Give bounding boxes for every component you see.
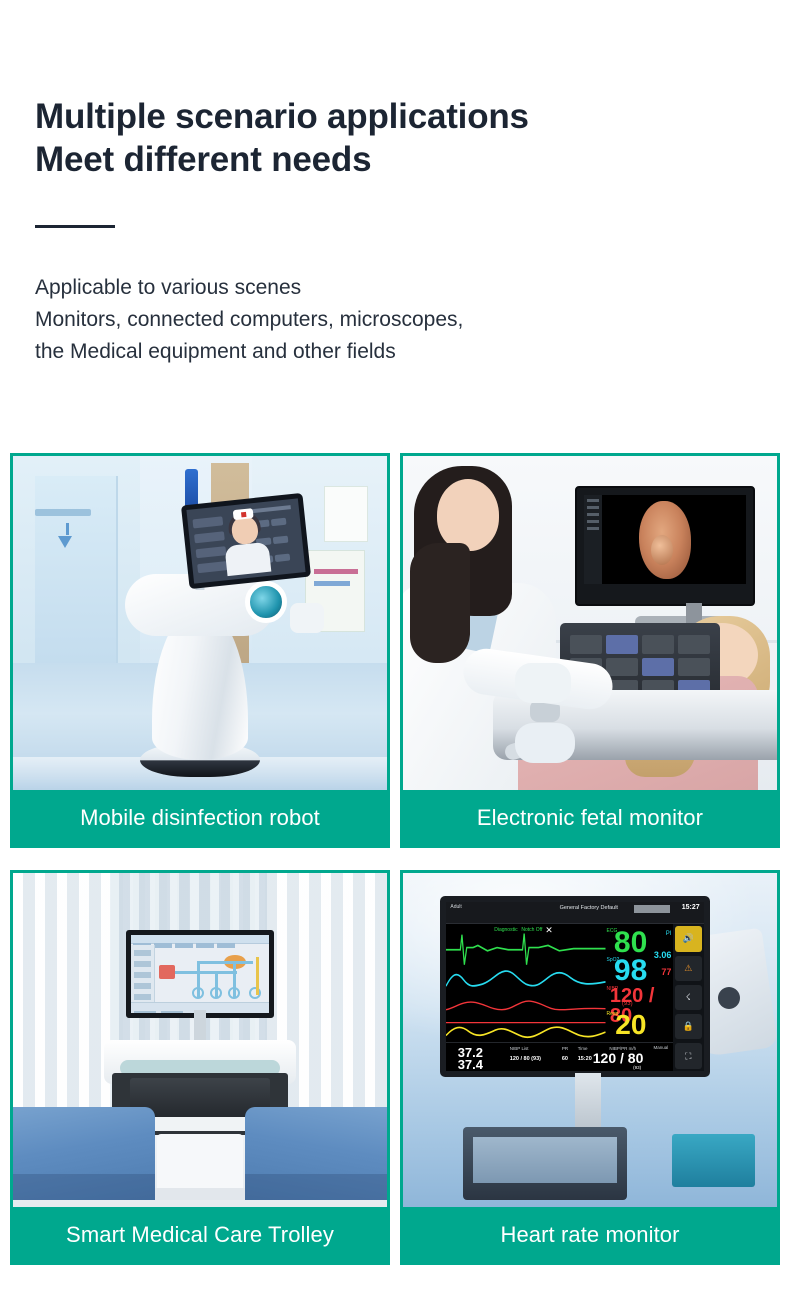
- monitor-topbar: Adult General Factory Default 15:27: [446, 902, 703, 924]
- wall-poster-upper: [324, 486, 368, 542]
- schematic-pipe-1: [175, 971, 237, 974]
- scenario-card-robot[interactable]: Mobile disinfection robot: [10, 453, 390, 848]
- scenario-card-fetal-monitor[interactable]: Electronic fetal monitor: [400, 453, 780, 848]
- schematic-valve-4: [249, 987, 261, 999]
- robot-tablet-screen: [181, 493, 311, 589]
- caption-mobile-disinfection-robot: Mobile disinfection robot: [13, 790, 387, 845]
- page-header: Multiple scenario applications Meet diff…: [35, 96, 755, 368]
- robot-arm: [290, 603, 324, 633]
- trolley-paper-tray: [146, 1117, 254, 1131]
- schematic-valve-2: [210, 987, 222, 999]
- footer-value-pr: 60: [562, 1056, 568, 1062]
- monitor-waveform-area: Diagnostic Notch Off ✕: [446, 924, 606, 1042]
- monitor-side-button-bar: 🔊 ⚠ ☇ 🔒 ⛶: [673, 924, 704, 1070]
- caption-smart-medical-care-trolley: Smart Medical Care Trolley: [13, 1207, 387, 1262]
- photo-electronic-fetal-monitor: [403, 456, 777, 790]
- wayfinding-arrow-stem: [66, 523, 69, 535]
- monitor-clock: 15:27: [682, 904, 700, 911]
- caption-electronic-fetal-monitor: Electronic fetal monitor: [403, 790, 777, 845]
- or-secondary-device: [463, 1127, 628, 1200]
- schematic-valve-1: [192, 987, 204, 999]
- ultrasound-screen-sidebar: [584, 495, 602, 584]
- photo-mobile-disinfection-robot: [13, 456, 387, 790]
- page-subtitle: Applicable to various scenes Monitors, c…: [35, 272, 755, 368]
- spo2-waveform: [446, 971, 606, 986]
- print-icon[interactable]: ⛶: [675, 1043, 702, 1068]
- hospital-bed-left: [13, 1107, 155, 1201]
- surgical-arm-joint: [718, 987, 740, 1009]
- resp-waveform: [446, 1027, 606, 1037]
- photo-smart-medical-care-trolley: [13, 873, 387, 1207]
- schematic-output-line: [256, 957, 259, 995]
- scenario-card-heart-rate-monitor[interactable]: Adult General Factory Default 15:27: [400, 870, 780, 1265]
- footer-value-nibp-list: 120 / 80 (93): [510, 1056, 541, 1062]
- doctor-hair-back: [410, 543, 470, 663]
- tablet-avatar-body: [224, 541, 271, 575]
- vital-value-resp: 20: [615, 1011, 646, 1039]
- footer-label-pr: PR: [562, 1046, 568, 1051]
- vital-value-spo2: 98: [614, 956, 647, 986]
- temperature-value-2: 37.4: [458, 1057, 483, 1072]
- monitor-mount-stand: [575, 1073, 601, 1133]
- trolley-display: [126, 930, 274, 1018]
- lock-icon[interactable]: 🔒: [675, 1014, 702, 1039]
- monitor-profile-label: General Factory Default: [560, 905, 618, 911]
- footer-value-time: 15:20: [578, 1056, 592, 1062]
- monitor-bottom-strip: 37.2 37.4 NIBP List 120 / 80 (93) PR 60 …: [446, 1042, 672, 1071]
- waveform-svg: [446, 924, 606, 1042]
- alarm-audio-icon[interactable]: 🔊: [675, 926, 702, 951]
- tablet-menu-list: [192, 516, 228, 579]
- photo-heart-rate-monitor: Adult General Factory Default 15:27: [403, 873, 777, 1207]
- doctor-gloved-hand-upper: [515, 663, 571, 703]
- page-title-line-2: Meet different needs: [35, 139, 755, 182]
- art-waveform: [446, 1001, 606, 1010]
- side-label-pi: PI: [666, 931, 672, 937]
- wall-sign-text: [35, 509, 91, 516]
- footer-label-manual: Manual: [654, 1045, 669, 1050]
- subtitle-line-2: Monitors, connected computers, microscop…: [35, 304, 755, 336]
- patient-monitor-screen: Adult General Factory Default 15:27: [440, 896, 709, 1076]
- monitor-numeric-column: ECG 80 SpO2 98 NIBP 120 / 80 (93) Resp 2…: [606, 924, 673, 1042]
- corridor-door: [35, 476, 117, 670]
- wayfinding-arrow-icon: [58, 536, 72, 548]
- hospital-bed-right: [245, 1107, 387, 1201]
- or-equipment-panel: [672, 1134, 754, 1187]
- ultrasound-wall-monitor: [575, 486, 755, 606]
- footer-value-nibp-repeat-mean: (93): [633, 1065, 641, 1070]
- doctor-head: [437, 479, 499, 551]
- side-value-pr: 77: [661, 967, 671, 977]
- monitor-progress-bar: [634, 905, 670, 913]
- promo-page: Multiple scenario applications Meet diff…: [0, 0, 790, 1289]
- title-divider: [35, 225, 115, 228]
- trolley-display-schematic: [157, 949, 265, 999]
- footer-label-time: Time: [578, 1046, 588, 1051]
- vital-value-nibp-mean: (93): [622, 1001, 633, 1007]
- waveform-overlay-label-1: Diagnostic: [494, 927, 517, 933]
- fetal-3d-image: [639, 501, 691, 579]
- schematic-pipe-2: [197, 961, 253, 964]
- caption-heart-rate-monitor: Heart rate monitor: [403, 1207, 777, 1262]
- tablet-avatar-nurse-cap: [233, 508, 254, 520]
- trolley-base-legs: [140, 1188, 260, 1200]
- trolley-display-toolbar: [131, 935, 269, 944]
- schematic-valve-3: [228, 987, 240, 999]
- page-title-line-1: Multiple scenario applications: [35, 96, 755, 139]
- ecg-waveform: [446, 934, 606, 965]
- patient-icon: [450, 896, 457, 902]
- waveform-overlay-label-2: Notch Off: [521, 927, 542, 933]
- ultrasound-screen: [584, 495, 746, 584]
- monitor-patient-type: Adult: [450, 904, 461, 910]
- subtitle-line-1: Applicable to various scenes: [35, 272, 755, 304]
- alarm-off-icon[interactable]: ⚠: [675, 956, 702, 981]
- trolley-display-left-panel: [131, 945, 155, 1003]
- scenario-card-medical-trolley[interactable]: Smart Medical Care Trolley: [10, 870, 390, 1265]
- nibp-start-icon[interactable]: ☇: [675, 985, 702, 1010]
- subtitle-line-3: the Medical equipment and other fields: [35, 336, 755, 368]
- footer-label-nibp-list: NIBP List: [510, 1046, 529, 1051]
- schematic-pump-node: [159, 965, 175, 979]
- scenario-card-grid: Mobile disinfection robot: [10, 453, 780, 1265]
- close-icon[interactable]: ✕: [545, 925, 553, 936]
- doctor-gloved-hand-lower: [515, 723, 575, 763]
- robot-uv-lamp: [245, 581, 287, 623]
- trolley-lower-body: [157, 1134, 243, 1196]
- side-value-pi: 3.06: [654, 950, 672, 960]
